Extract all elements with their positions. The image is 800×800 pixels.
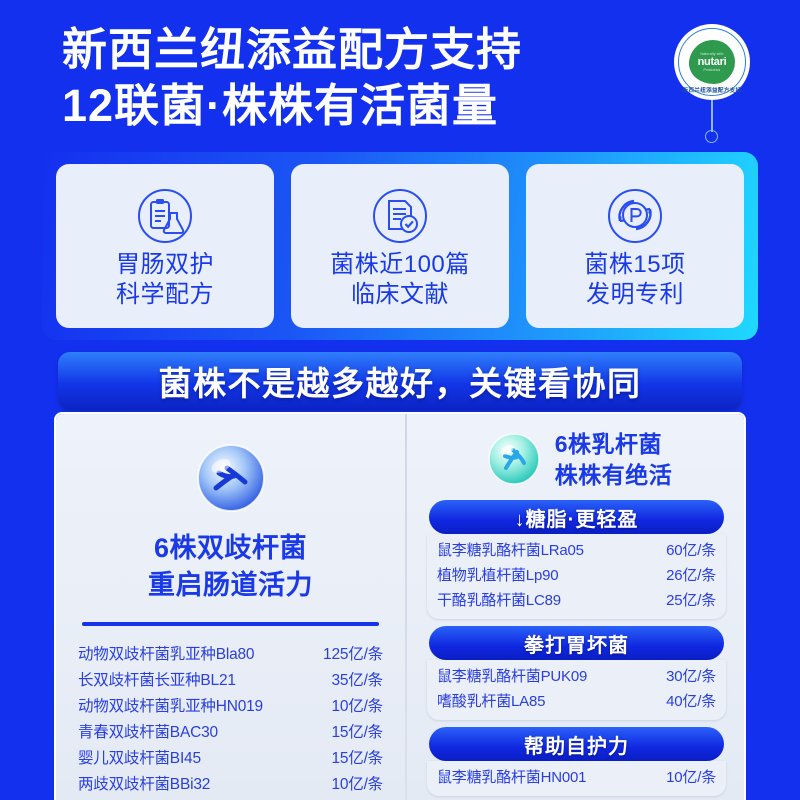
table-row: 鼠李糖乳酪杆菌PUK09 30亿/条 [437,664,716,689]
section-banner-text: 菌株不是越多越好，关键看协同 [159,357,642,405]
feature-cards-strip: 胃肠双护 科学配方 菌株近100篇 临床文献 [42,152,758,340]
strain-value: 30亿/条 [666,664,716,689]
strain-value: 35亿/条 [331,668,383,694]
table-row: 长双歧杆菌长亚种BL21 35亿/条 [78,668,383,694]
right-heading-line1: 6株乳杆菌 [555,429,673,460]
strain-value: 25亿/条 [666,588,716,613]
table-row: 两歧双歧杆菌BBi32 10亿/条 [78,772,383,798]
logo-blob-icon: Naturally with nutari Probiotics [689,40,735,84]
strain-name: 鼠李糖乳酪杆菌HN001 [437,765,586,790]
table-row: 婴儿双歧杆菌BI45 15亿/条 [78,746,383,772]
strain-name: 动物双歧杆菌乳亚种Bla80 [78,642,254,668]
feature-card-1[interactable]: 胃肠双护 科学配方 [56,164,274,328]
feature-card-1-line1: 胃肠双护 [116,250,214,280]
clipboard-flask-icon [136,187,194,245]
strain-value: 15亿/条 [331,720,383,746]
page-header: 新西兰纽添益配方支持 12联菌·株株有活菌量 Naturally with nu… [0,0,800,150]
left-heading-line1: 6株双歧杆菌 [74,530,387,567]
table-row: 植物乳植杆菌Lp90 26亿/条 [437,563,716,588]
strain-group-3-list: 鼠李糖乳酪杆菌HN001 10亿/条 [427,761,726,796]
table-row: 嗜酸乳杆菌LA85 40亿/条 [437,689,716,714]
strain-group-2-list: 鼠李糖乳酪杆菌PUK09 30亿/条 嗜酸乳杆菌LA85 40亿/条 [427,660,726,720]
right-panel-heading: 6株乳杆菌 株株有绝活 [423,428,730,492]
document-check-icon [371,187,429,245]
feature-card-2[interactable]: 菌株近100篇 临床文献 [291,164,509,328]
strain-group-3-title: 帮助自护力 [429,727,724,761]
logo-brand-name: nutari [698,57,727,68]
logo-stem-line [711,100,713,132]
strain-name: 干酪乳酪杆菌LC89 [437,588,561,613]
table-row: 鼠李糖乳酪杆菌HN001 10亿/条 [437,765,716,790]
strain-group-1-list: 鼠李糖乳酪杆菌LRa05 60亿/条 植物乳植杆菌Lp90 26亿/条 干酪乳酪… [427,534,726,619]
table-row: 动物双歧杆菌乳亚种HN019 10亿/条 [78,694,383,720]
feature-card-3-text: 菌株15项 发明专利 [584,250,685,310]
strain-name: 动物双歧杆菌乳亚种HN019 [78,694,263,720]
patent-p-icon [606,187,664,245]
strain-group-1: ↓糖脂·更轻盈 鼠李糖乳酪杆菌LRa05 60亿/条 植物乳植杆菌Lp90 26… [423,500,730,619]
brand-logo: Naturally with nutari Probiotics 新西兰纽添益配… [660,24,770,144]
left-panel-heading: 6株双歧杆菌 重启肠道活力 [74,530,387,604]
feature-card-3-line2: 发明专利 [584,280,685,310]
right-heading-text: 6株乳杆菌 株株有绝活 [555,429,673,491]
strain-group-2: 拳打胃坏菌 鼠李糖乳酪杆菌PUK09 30亿/条 嗜酸乳杆菌LA85 40亿/条 [423,626,730,720]
strain-group-1-title: ↓糖脂·更轻盈 [429,500,724,534]
bifidobacteria-strain-list: 动物双歧杆菌乳亚种Bla80 125亿/条 长双歧杆菌长亚种BL21 35亿/条… [74,642,387,798]
lactobacillus-panel: 6株乳杆菌 株株有绝活 ↓糖脂·更轻盈 鼠李糖乳酪杆菌LRa05 60亿/条 植… [407,414,744,800]
strain-value: 60亿/条 [666,538,716,563]
strain-name: 植物乳植杆菌Lp90 [437,563,558,588]
strain-value: 15亿/条 [331,746,383,772]
logo-arc-text: 新西兰纽添益配方支持 [679,86,745,94]
strain-name: 婴儿双歧杆菌BI45 [78,746,201,772]
feature-card-2-line2: 临床文献 [330,280,470,310]
strain-name: 鼠李糖乳酪杆菌PUK09 [437,664,587,689]
strain-name: 两歧双歧杆菌BBi32 [78,772,210,798]
strain-value: 125亿/条 [323,642,383,668]
strain-value: 10亿/条 [331,694,383,720]
bifidobacteria-orb-icon [185,436,277,524]
left-panel-divider [82,622,379,626]
feature-card-1-line2: 科学配方 [116,280,214,310]
table-row: 动物双歧杆菌乳亚种Bla80 125亿/条 [78,642,383,668]
feature-card-2-text: 菌株近100篇 临床文献 [330,250,470,310]
table-row: 青春双歧杆菌BAC30 15亿/条 [78,720,383,746]
page-title: 新西兰纽添益配方支持 12联菌·株株有活菌量 [62,22,662,134]
title-line-1: 新西兰纽添益配方支持 [62,22,662,78]
logo-tagline-bottom: Probiotics [704,68,721,73]
strain-name: 嗜酸乳杆菌LA85 [437,689,545,714]
strain-group-3: 帮助自护力 鼠李糖乳酪杆菌HN001 10亿/条 [423,727,730,796]
strain-name: 鼠李糖乳酪杆菌LRa05 [437,538,584,563]
section-banner: 菌株不是越多越好，关键看协同 [58,352,742,410]
bifidobacteria-panel: 6株双歧杆菌 重启肠道活力 动物双歧杆菌乳亚种Bla80 125亿/条 长双歧杆… [56,414,405,800]
lactobacillus-orb-icon [481,428,547,492]
strain-value: 10亿/条 [666,765,716,790]
logo-drop-icon [705,130,718,143]
strain-group-2-title: 拳打胃坏菌 [429,626,724,660]
left-heading-line2: 重启肠道活力 [74,567,387,604]
logo-badge: Naturally with nutari Probiotics 新西兰纽添益配… [674,24,750,100]
table-row: 干酪乳酪杆菌LC89 25亿/条 [437,588,716,613]
feature-card-2-line1: 菌株近100篇 [330,250,470,280]
strain-name: 长双歧杆菌长亚种BL21 [78,668,236,694]
feature-card-3[interactable]: 菌株15项 发明专利 [526,164,744,328]
strain-name: 青春双歧杆菌BAC30 [78,720,218,746]
strain-value: 26亿/条 [666,563,716,588]
right-heading-line2: 株株有绝活 [555,460,673,491]
title-line-2: 12联菌·株株有活菌量 [62,78,662,134]
strain-value: 40亿/条 [666,689,716,714]
strain-value: 10亿/条 [331,772,383,798]
logo-ring: Naturally with nutari Probiotics 新西兰纽添益配… [678,28,746,96]
strain-panels: 6株双歧杆菌 重启肠道活力 动物双歧杆菌乳亚种Bla80 125亿/条 长双歧杆… [56,414,744,800]
feature-card-3-line1: 菌株15项 [584,250,685,280]
feature-card-1-text: 胃肠双护 科学配方 [116,250,214,310]
table-row: 鼠李糖乳酪杆菌LRa05 60亿/条 [437,538,716,563]
